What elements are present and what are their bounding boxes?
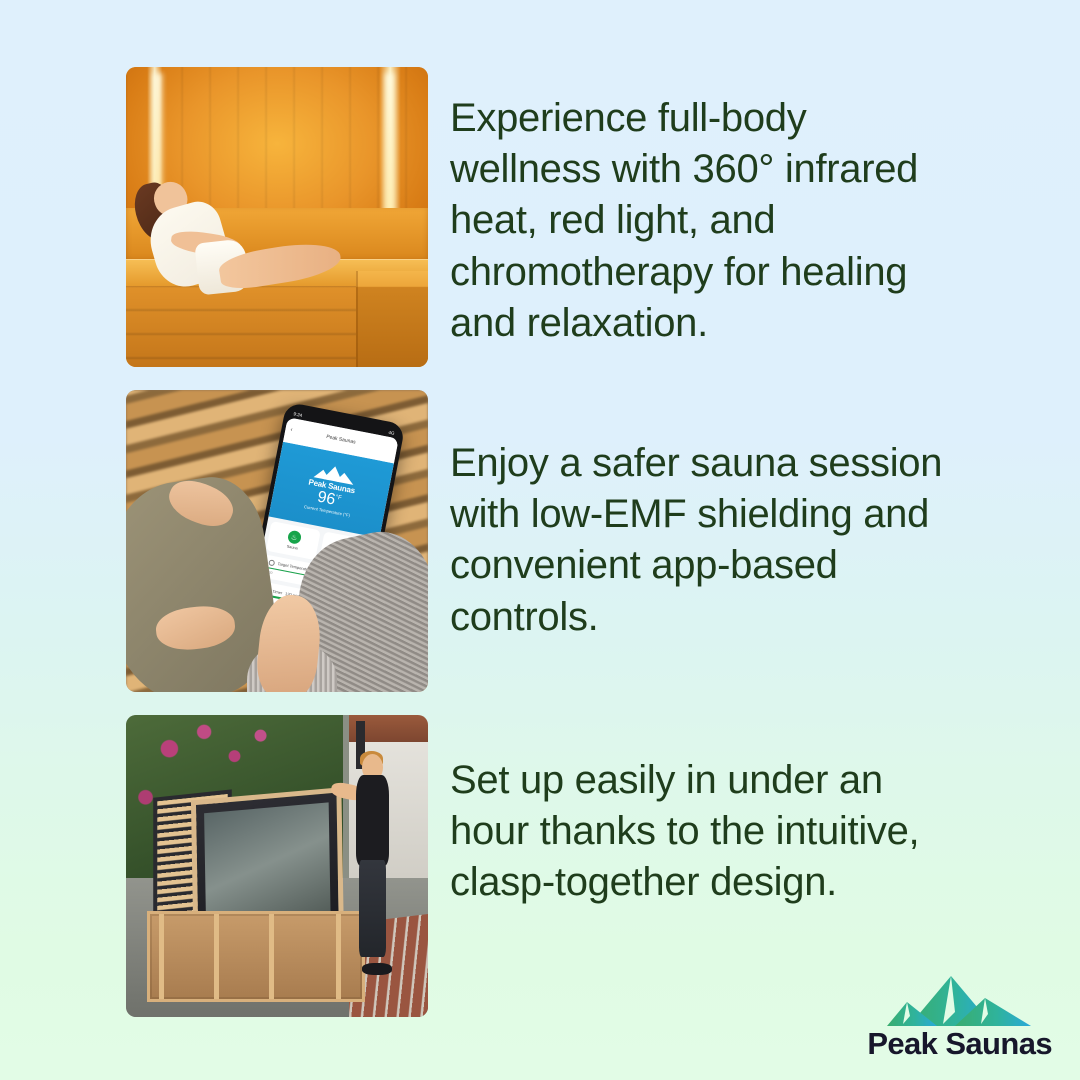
feature-list: Experience full-body wellness with 360° … <box>0 0 1080 1080</box>
app-tile-sauna-label: Sauna <box>286 545 298 551</box>
feature-row-setup: Set up easily in under an hour thanks to… <box>126 715 950 1017</box>
app-title: Peak Saunas <box>326 434 356 446</box>
feature-image-app-phone: 9:24 4G ‹ Peak Saunas Peak Sauna <box>126 390 428 692</box>
feature-image-sauna-interior <box>126 67 428 367</box>
feature-row-wellness: Experience full-body wellness with 360° … <box>126 67 950 367</box>
feature-text-wellness: Experience full-body wellness with 360° … <box>450 67 950 349</box>
mountain-logo-icon <box>885 972 1035 1028</box>
person-torso <box>356 775 389 866</box>
status-network: 4G <box>388 430 395 436</box>
feature-text-low-emf: Enjoy a safer sauna session with low-EMF… <box>450 390 950 643</box>
sauna-heat-icon: ♨ <box>286 530 301 545</box>
sauna-person <box>132 175 349 313</box>
sauna-side-bench <box>356 271 428 367</box>
feature-text-setup: Set up easily in under an hour thanks to… <box>450 715 950 909</box>
person-shoe <box>362 963 392 975</box>
app-tile-sauna[interactable]: ♨ Sauna <box>266 521 321 560</box>
app-card-timer-label: Timer <box>272 588 283 595</box>
brand-logo: Peak Saunas <box>867 972 1052 1062</box>
feature-row-low-emf: 9:24 4G ‹ Peak Saunas Peak Sauna <box>126 390 950 692</box>
shipping-crate <box>147 911 364 1002</box>
status-time: 9:24 <box>293 411 303 418</box>
feature-image-crate-delivery <box>126 715 428 1017</box>
back-chevron-icon[interactable]: ‹ <box>290 427 293 433</box>
brand-logo-text: Peak Saunas <box>867 1026 1052 1062</box>
thermometer-icon <box>268 559 275 566</box>
person-legs <box>359 860 386 957</box>
